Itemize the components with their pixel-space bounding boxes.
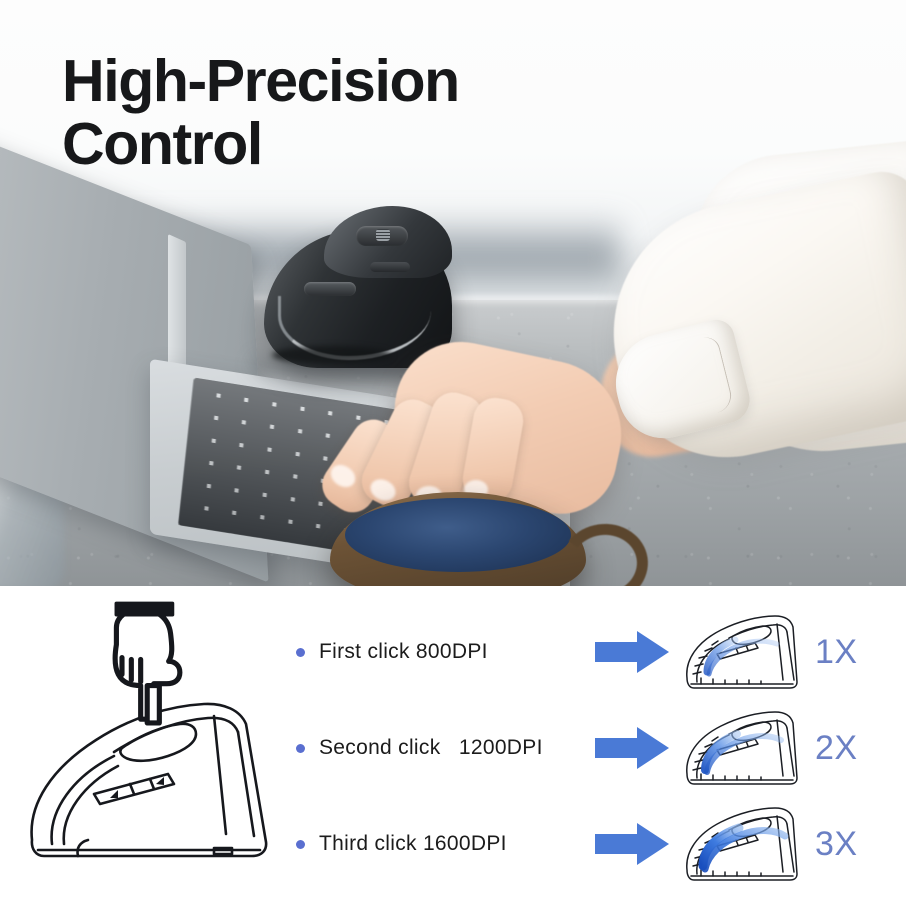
pointing-hand-icon bbox=[94, 596, 206, 736]
page-title: High-Precision Control bbox=[62, 50, 662, 175]
dpi-row-first-click: First click 800DPI bbox=[286, 604, 906, 700]
bullet-icon bbox=[296, 840, 305, 849]
right-arrow-icon bbox=[595, 823, 669, 865]
mouse-base-shadow bbox=[272, 346, 392, 364]
bullet-icon bbox=[296, 744, 305, 753]
coffee-mug-interior bbox=[345, 498, 571, 572]
right-arrow-icon bbox=[595, 631, 669, 673]
hand-cuff bbox=[115, 602, 175, 617]
dpi-multiplier-label: 3X bbox=[815, 825, 858, 864]
hero-product-photo: High-Precision Control bbox=[0, 0, 906, 586]
mouse-side-buttons bbox=[304, 282, 356, 296]
dpi-row-second-click: Second click 1200DPI bbox=[286, 700, 906, 796]
pointing-finger bbox=[147, 686, 159, 723]
dpi-row-third-click: Third click 1600DPI bbox=[286, 796, 906, 892]
dpi-row-label: Third click 1600DPI bbox=[319, 832, 595, 856]
vertical-mouse-photo bbox=[264, 204, 452, 368]
mouse-led-level-icon bbox=[681, 802, 799, 886]
press-dpi-button-illustration bbox=[18, 598, 286, 888]
product-feature-page: High-Precision Control bbox=[0, 0, 906, 902]
dpi-rows-list: First click 800DPI bbox=[286, 596, 906, 896]
scroll-wheel bbox=[376, 229, 390, 241]
dpi-button bbox=[370, 262, 410, 272]
right-arrow-icon bbox=[595, 727, 669, 769]
mouse-led-level-icon bbox=[681, 610, 799, 694]
dpi-multiplier-label: 2X bbox=[815, 729, 858, 768]
dpi-row-label: Second click 1200DPI bbox=[319, 736, 595, 760]
dpi-row-label: First click 800DPI bbox=[319, 640, 595, 664]
dpi-instruction-diagram: First click 800DPI bbox=[0, 586, 906, 902]
mouse-led-level-icon bbox=[681, 706, 799, 790]
bullet-icon bbox=[296, 648, 305, 657]
dpi-multiplier-label: 1X bbox=[815, 633, 858, 672]
